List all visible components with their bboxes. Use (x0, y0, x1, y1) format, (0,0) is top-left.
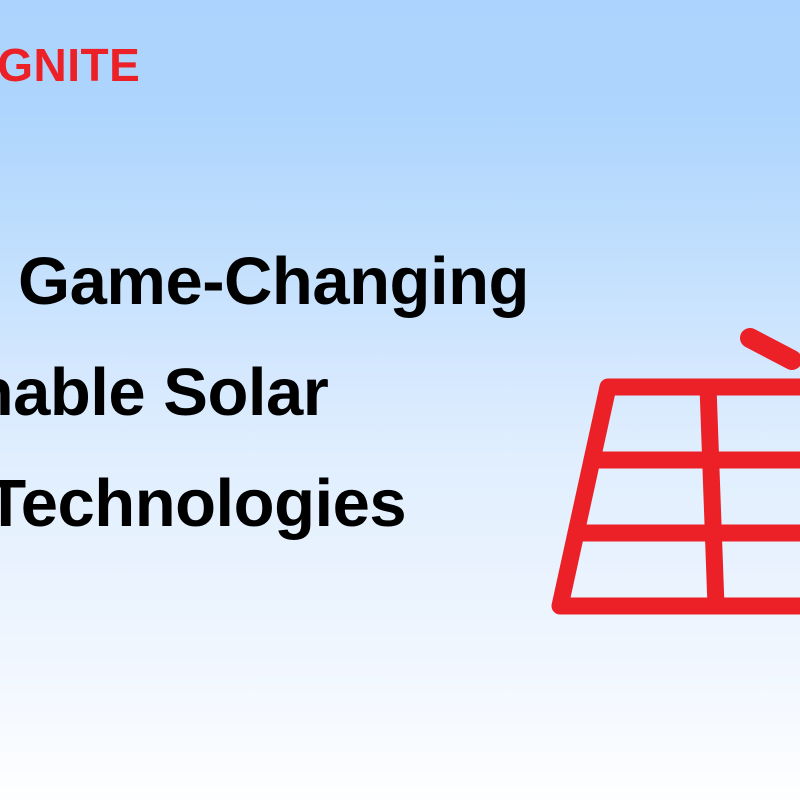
headline-line-1: Game-Changing (18, 226, 778, 337)
solar-panel-outline (560, 387, 800, 606)
banner-canvas: IGNITE Game-Changing tainable Solar gy T… (0, 0, 800, 800)
panel-column-divider-1 (708, 387, 716, 606)
panel-frame (560, 387, 800, 606)
brand-logo-ignite: IGNITE (0, 42, 140, 88)
sun-ray-icon (750, 338, 792, 360)
solar-panel-icon (540, 322, 800, 622)
